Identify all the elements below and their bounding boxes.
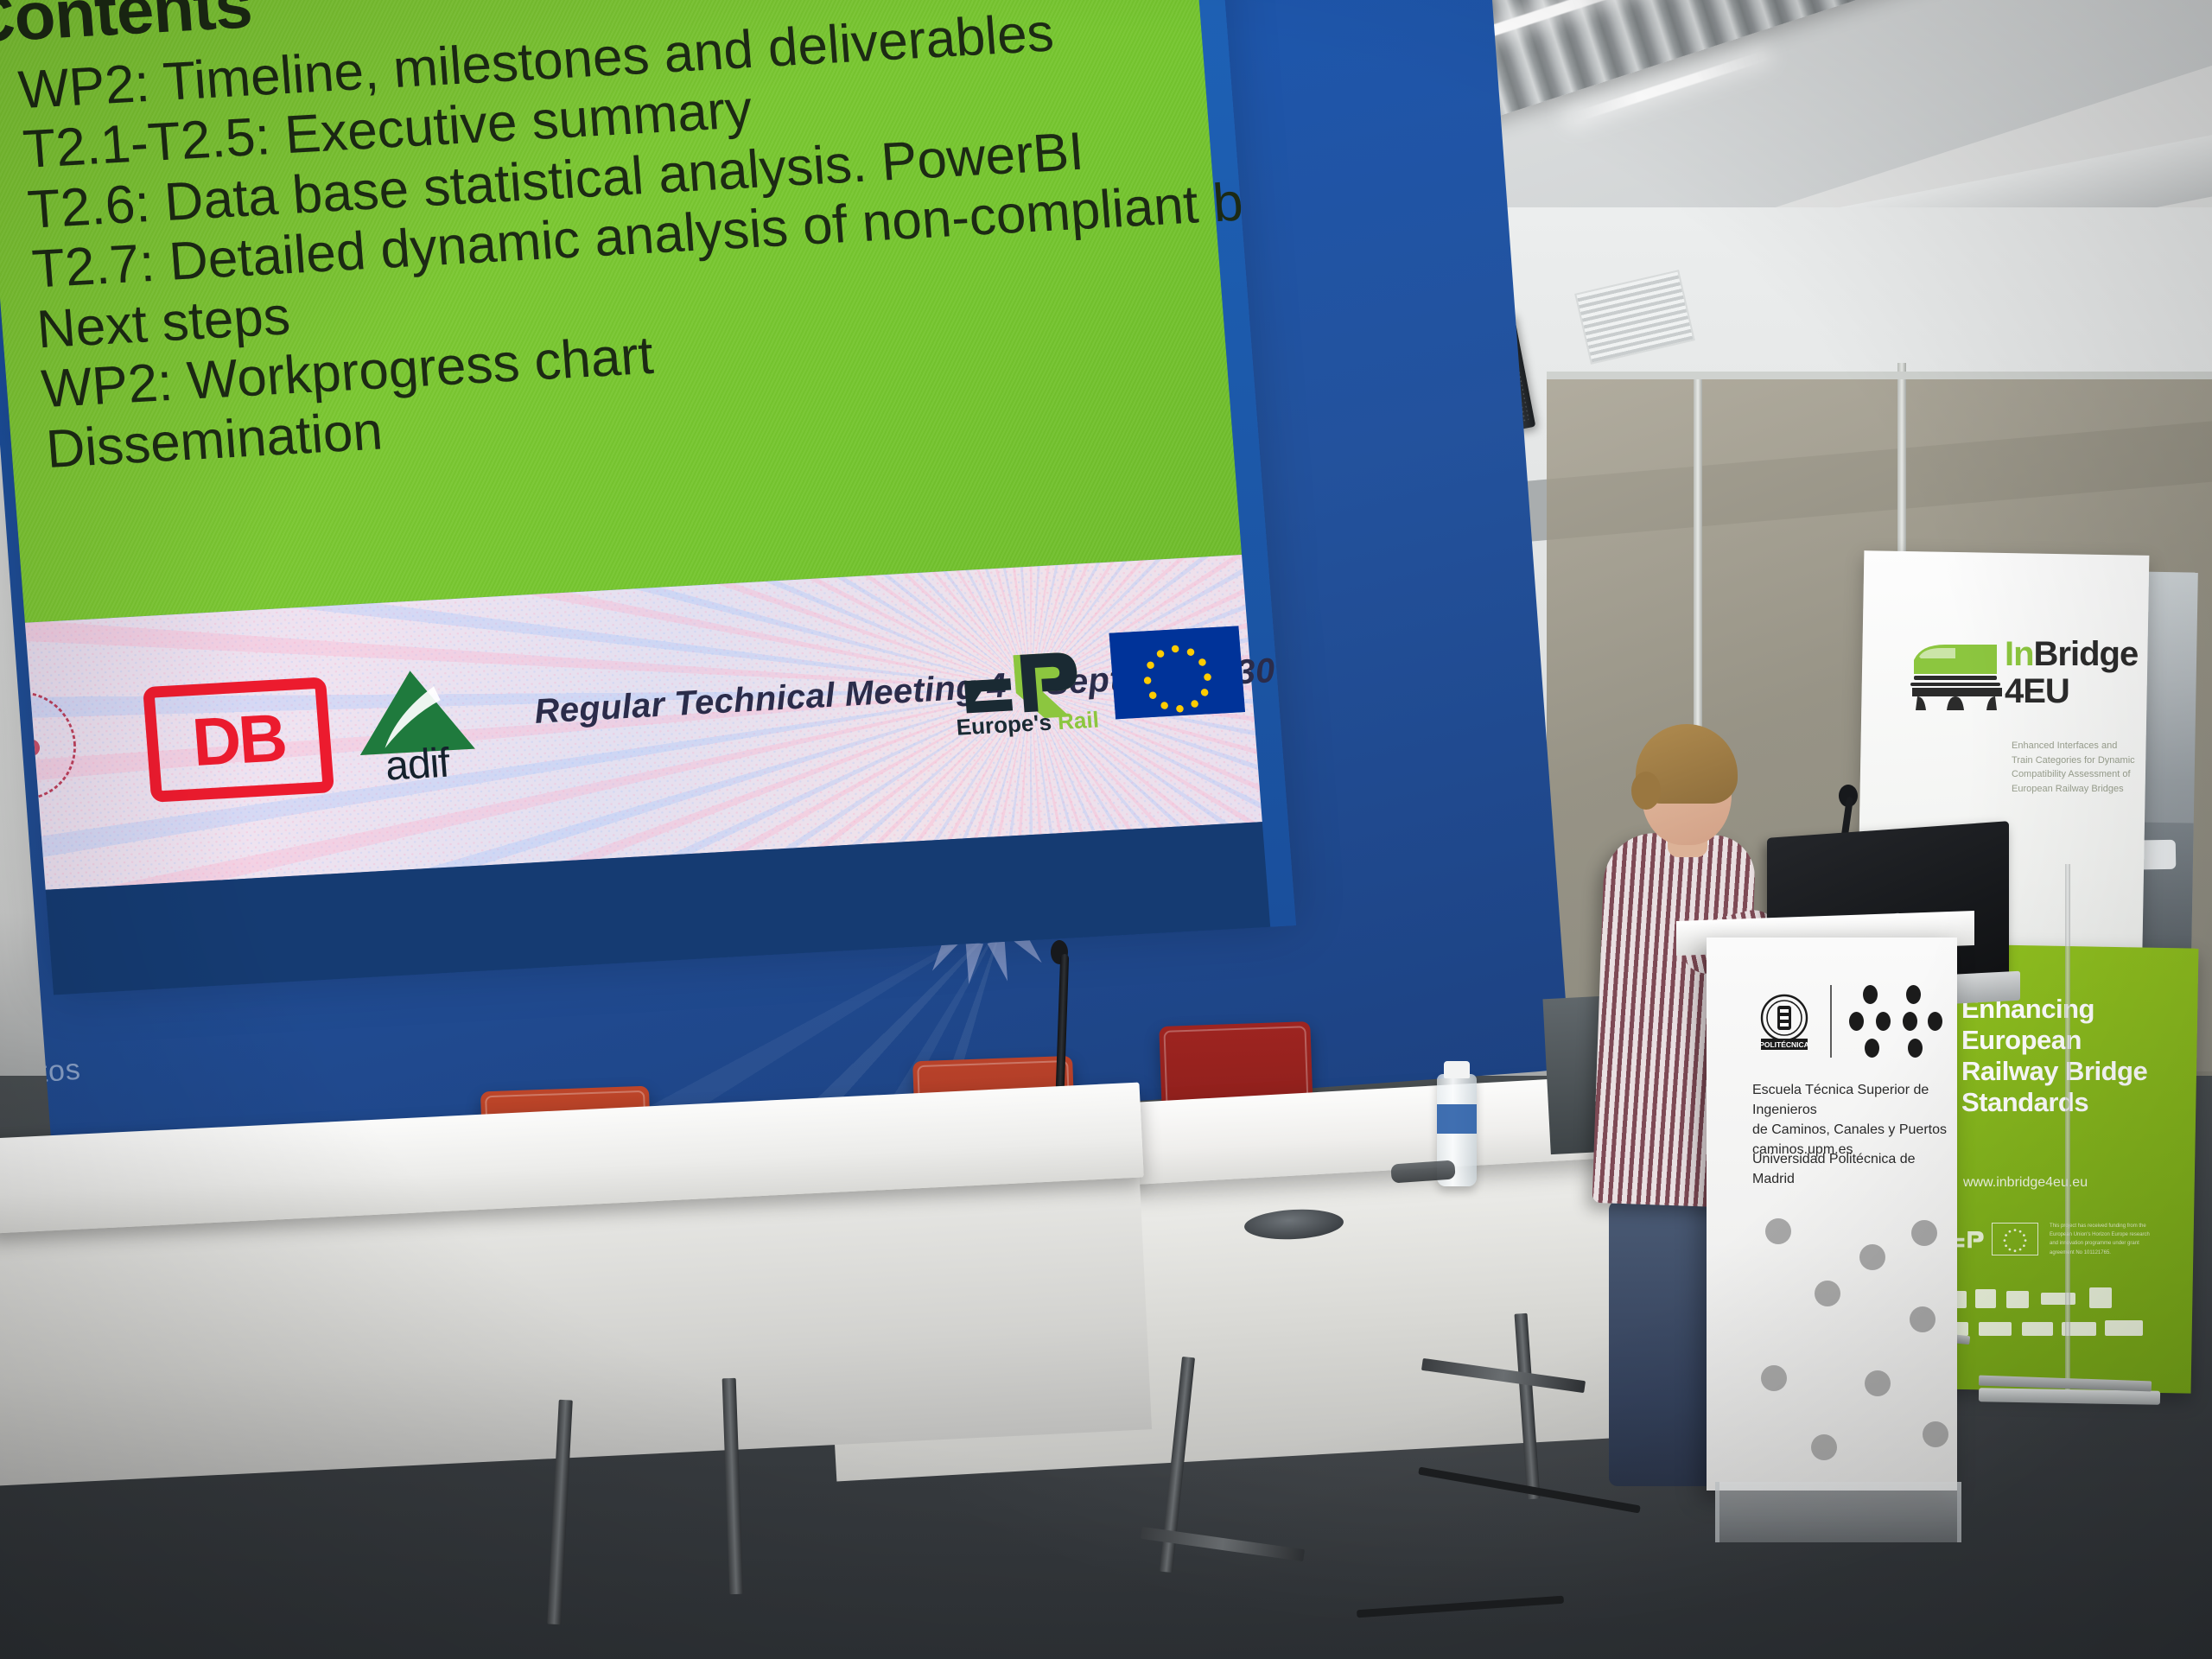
lectern-logo-divider xyxy=(1830,985,1832,1058)
wordmark-4: 4 xyxy=(2005,672,2023,710)
lectern-url: caminos.upm.es xyxy=(1752,1142,1853,1158)
lectern-dot xyxy=(1815,1281,1840,1306)
headline-line-2: European xyxy=(1961,1025,2082,1055)
banner-support-pole xyxy=(2065,864,2070,1395)
eu-flag-icon xyxy=(1109,626,1245,719)
upm-seven-dots-logo-icon xyxy=(1849,985,1944,1058)
wordmark-in: In xyxy=(2005,635,2034,673)
lectern-dot xyxy=(1811,1434,1837,1460)
lectern-line-2: de Caminos, Canales y Puertos xyxy=(1752,1120,1955,1140)
slide-contents-list: WP2: Timeline, milestones and deliverabl… xyxy=(16,0,1222,480)
lectern-dot xyxy=(1910,1306,1935,1332)
adif-logo-text: adif xyxy=(342,737,493,792)
bottle-cap-icon xyxy=(1444,1061,1470,1078)
inbridge4eu-wordmark-line2: 4EU xyxy=(2005,672,2069,711)
er-word-2: Rail xyxy=(1057,707,1100,735)
lectern-base xyxy=(1715,1482,1961,1542)
wordmark-bridge: Bridge xyxy=(2034,635,2139,673)
lectern-dot xyxy=(1859,1244,1885,1270)
banner-headline: Enhancing European Railway Bridge Standa… xyxy=(1961,994,2203,1118)
lectern-dot xyxy=(1923,1421,1948,1447)
presenter-hair-bun xyxy=(1631,772,1661,810)
lectern-line-1: Escuela Técnica Superior de Ingenieros xyxy=(1752,1080,1955,1120)
lectern-dot xyxy=(1765,1218,1791,1244)
lectern-dot xyxy=(1865,1370,1891,1396)
lectern-school-text: Escuela Técnica Superior de Ingenieros d… xyxy=(1752,1080,1955,1189)
wordmark-eu: EU xyxy=(2023,672,2069,710)
partition-frame-top xyxy=(1547,372,2212,379)
er-word-1: Europe's xyxy=(956,709,1052,741)
svg-text:POLITÉCNICA: POLITÉCNICA xyxy=(1759,1040,1809,1049)
conference-room-photo: D P xyxy=(0,0,2212,1659)
db-logo-text: DB xyxy=(190,707,287,772)
upm-politecnica-seal-icon: POLITÉCNICA xyxy=(1754,992,1815,1051)
lectern-dot xyxy=(1911,1220,1937,1246)
eu-flag-outline-icon xyxy=(1992,1223,2038,1255)
headline-line-3: Railway Bridge xyxy=(1961,1056,2147,1086)
inbridge4eu-tagline: Enhanced Interfaces and Train Categories… xyxy=(2012,739,2137,796)
db-logo-icon: DB xyxy=(143,677,334,802)
lectern-dot xyxy=(1761,1365,1787,1391)
banner-partner-logos xyxy=(1944,1287,2177,1348)
projected-slide: Contents WP2: Timeline, milestones and d… xyxy=(0,0,1296,995)
inbridge4eu-wordmark-line1: InBridge xyxy=(2005,635,2138,674)
bottle-label xyxy=(1437,1104,1477,1134)
